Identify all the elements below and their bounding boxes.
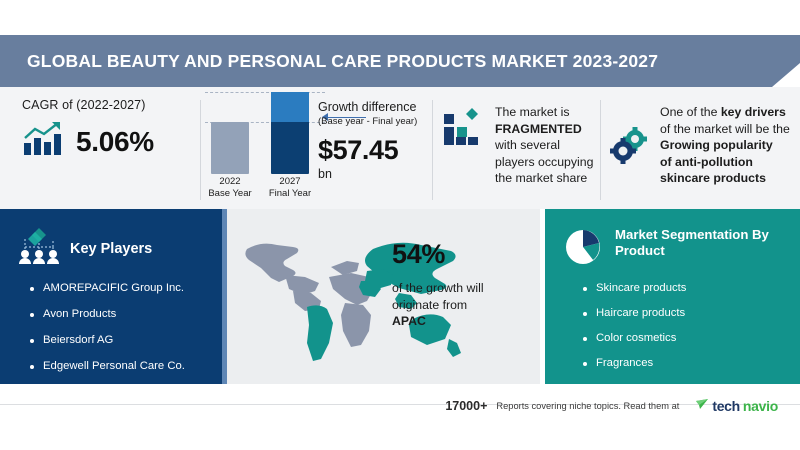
list-item: Haircare products — [583, 307, 800, 320]
driver-bold3: of anti-pollution — [660, 155, 753, 169]
key-driver-text: One of the key drivers of the market wil… — [660, 104, 790, 187]
growth-difference-block: Growth difference (Base year - Final yea… — [318, 100, 428, 181]
infographic-root: GLOBAL BEAUTY AND PERSONAL CARE PRODUCTS… — [0, 0, 800, 450]
divider-2 — [432, 100, 433, 200]
apac-line2: originate from — [392, 298, 467, 312]
logo-text-tech: tech — [712, 398, 740, 414]
list-item: AMOREPACIFIC Group Inc. — [30, 282, 222, 295]
list-item: Edgewell Personal Care Co. — [30, 360, 222, 373]
growth-unit: bn — [318, 167, 428, 181]
list-item: Color cosmetics — [583, 332, 800, 345]
header-banner: GLOBAL BEAUTY AND PERSONAL CARE PRODUCTS… — [0, 35, 800, 87]
divider-1 — [200, 100, 201, 200]
list-item: Beiersdorf AG — [30, 334, 222, 347]
list-item: Avon Products — [30, 308, 222, 321]
growth-value: $57.45 — [318, 135, 428, 166]
logo-text-navio: navio — [743, 398, 778, 414]
footer-text: Reports covering niche topics. Read them… — [496, 401, 679, 411]
bar-label-final: 2027 Final Year — [264, 176, 316, 200]
apac-region: APAC — [392, 314, 426, 328]
growth-subheading: (Base year - Final year) — [318, 115, 428, 128]
footer: 17000+ Reports covering niche topics. Re… — [0, 391, 800, 421]
list-item: Skincare products — [583, 282, 800, 295]
apac-block: 54% of the growth will originate from AP… — [392, 239, 532, 330]
segmentation-list: Skincare products Haircare products Colo… — [545, 282, 800, 370]
cagr-block: CAGR of (2022-2027) 5.06% — [22, 98, 207, 162]
segmentation-panel: Market Segmentation By Product Skincare … — [545, 209, 800, 384]
paper-plane-icon — [695, 397, 709, 416]
technavio-logo[interactable]: technavio — [695, 397, 778, 416]
key-players-panel: Key Players AMOREPACIFIC Group Inc. Avon… — [0, 209, 222, 384]
pie-chart-icon — [563, 227, 603, 272]
cagr-label: CAGR of (2022-2027) — [22, 98, 207, 112]
fragmented-squares-icon — [443, 104, 483, 187]
report-count: 17000+ — [445, 399, 487, 413]
growth-bar-chart: 2022 Base Year 2027 Final Year — [205, 100, 325, 200]
key-players-title: Key Players — [70, 241, 152, 257]
divider-3 — [600, 100, 601, 200]
driver-line1: One of the — [660, 105, 721, 119]
fragmented-text: The market is FRAGMENTED with several pl… — [495, 104, 593, 187]
fragmented-line4: the market share — [495, 171, 587, 185]
growth-chart-icon — [22, 121, 64, 162]
fragmented-line2: with several — [495, 138, 560, 152]
segmentation-title: Market Segmentation By Product — [615, 227, 775, 259]
bar-base-year — [211, 122, 249, 174]
fragmented-bold: FRAGMENTED — [495, 122, 582, 136]
bar-final-year — [271, 92, 309, 174]
driver-bold4: skincare products — [660, 171, 766, 185]
list-item: Fragrances — [583, 357, 800, 370]
key-driver-block: One of the key drivers of the market wil… — [610, 104, 790, 187]
gears-icon — [610, 104, 650, 187]
page-title: GLOBAL BEAUTY AND PERSONAL CARE PRODUCTS… — [0, 51, 658, 72]
fragmented-line1: The market is — [495, 105, 569, 119]
bar-growth-difference — [271, 92, 309, 122]
cagr-value: 5.06% — [76, 126, 154, 158]
growth-heading: Growth difference — [318, 100, 428, 115]
apac-line1: of the growth will — [392, 281, 484, 295]
driver-line2: of the market will be the — [660, 122, 790, 136]
org-chart-icon — [18, 227, 60, 270]
middle-row: Key Players AMOREPACIFIC Group Inc. Avon… — [0, 209, 800, 384]
driver-bold1: key drivers — [721, 105, 786, 119]
driver-bold2: Growing popularity — [660, 138, 773, 152]
apac-text: of the growth will originate from APAC — [392, 280, 532, 330]
apac-percent: 54% — [392, 239, 532, 270]
fragmented-block: The market is FRAGMENTED with several pl… — [443, 104, 593, 187]
key-players-list: AMOREPACIFIC Group Inc. Avon Products Be… — [0, 282, 222, 399]
fragmented-line3: players occupying — [495, 155, 593, 169]
bar-label-base: 2022 Base Year — [204, 176, 256, 200]
